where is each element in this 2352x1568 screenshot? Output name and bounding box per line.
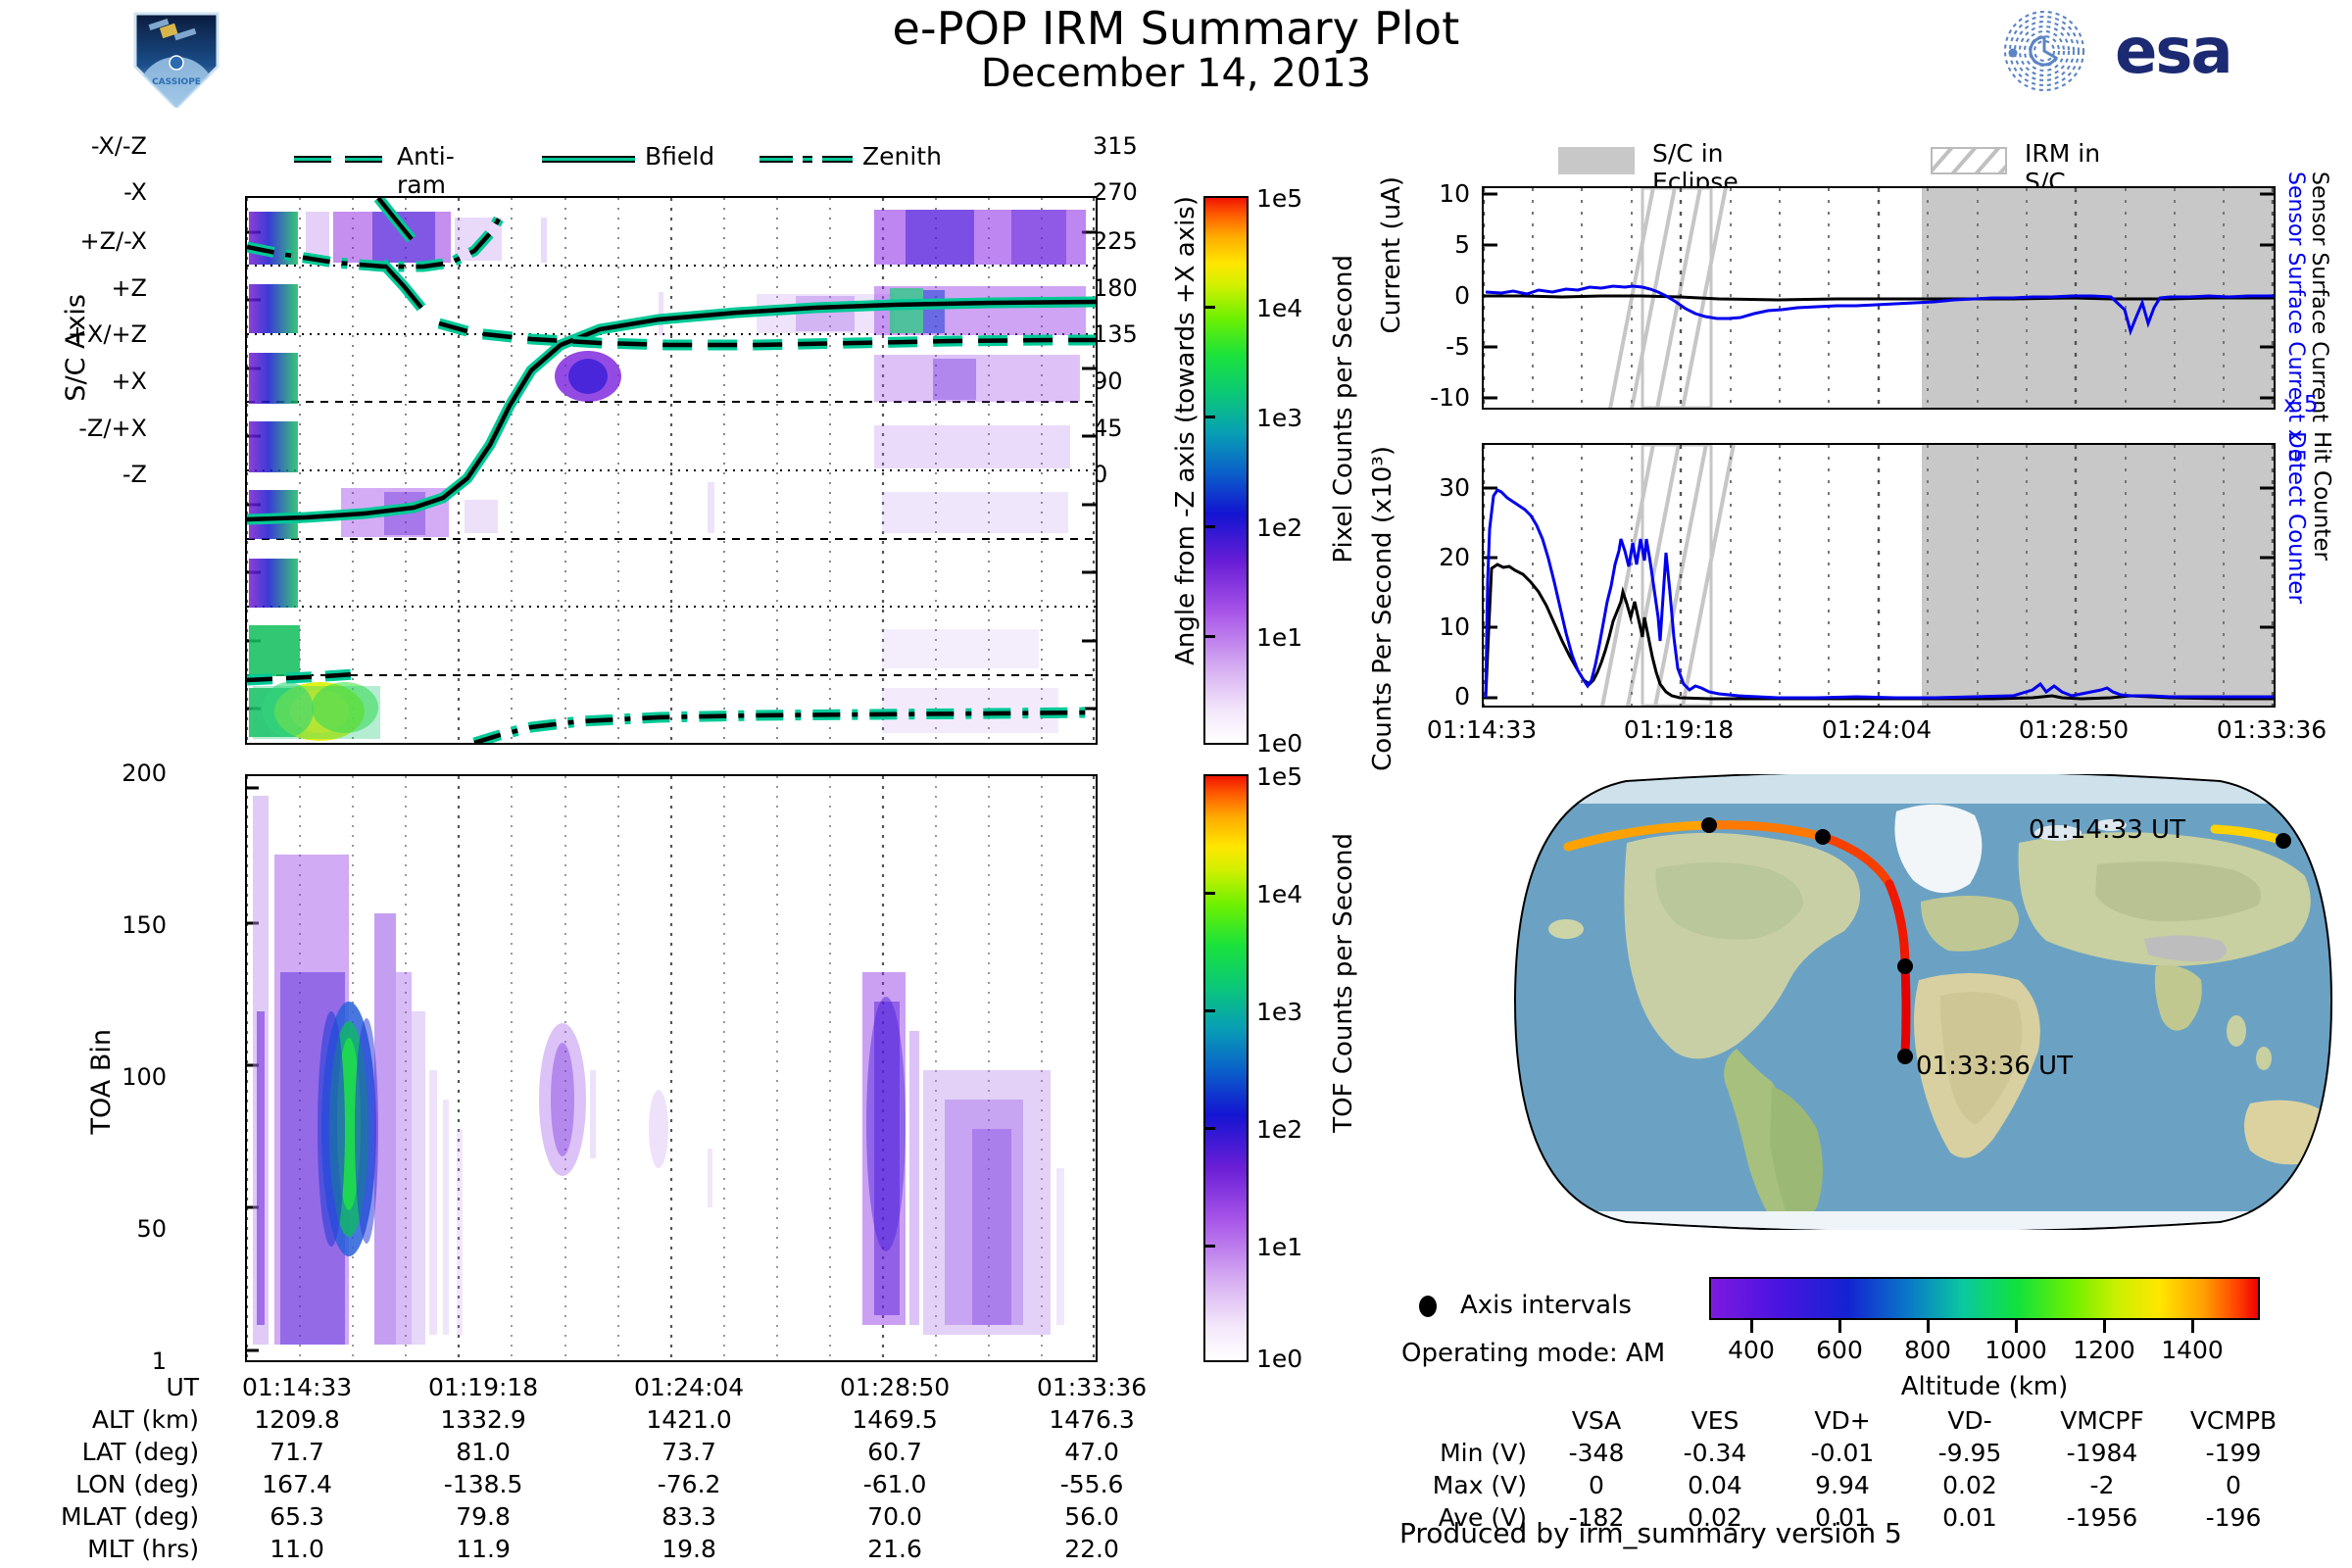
lat-c1: 81.0 — [381, 1437, 585, 1467]
current-right-label-black: Sensor Surface Current — [2307, 171, 2331, 422]
counts-ytick-10: 10 — [1411, 612, 1470, 641]
operating-mode-label: Operating mode: AM — [1401, 1339, 1665, 1368]
row-label-mlat: MLAT (deg) — [61, 1501, 213, 1532]
current-ytick-neg10: -10 — [1396, 383, 1470, 412]
right-xtick-0: 01:14:33 — [1394, 715, 1570, 744]
lon-c3: -61.0 — [793, 1469, 997, 1499]
vt-ave-4: -1956 — [2034, 1502, 2170, 1533]
vt-max-2: 9.94 — [1780, 1470, 1905, 1500]
mlt-c4: 22.0 — [999, 1534, 1185, 1564]
produced-by-footer: Produced by irm_summary version 5 — [1399, 1517, 1902, 1549]
current-ylabel: Current (uA) — [1377, 176, 1406, 333]
tof-cbar-tick-1e4: 1e4 — [1256, 880, 1302, 908]
alt-c2: 1421.0 — [587, 1404, 791, 1435]
vt-ave-3: 0.01 — [1907, 1502, 2033, 1533]
alt-c0: 1209.8 — [215, 1404, 379, 1435]
lat-c4: 47.0 — [999, 1437, 1185, 1467]
vt-min-0: -348 — [1543, 1438, 1650, 1468]
vt-min-1: -0.34 — [1652, 1438, 1778, 1468]
lat-c3: 60.7 — [793, 1437, 997, 1467]
tof-cbar-tick-1e0: 1e0 — [1256, 1345, 1302, 1373]
mlat-c1: 79.8 — [381, 1501, 585, 1532]
shadow-swatch-icon — [1931, 147, 2007, 174]
current-scale-x5-label: x 5 — [2283, 392, 2319, 417]
sc-ytick-right-2: 225 — [1093, 227, 1138, 255]
tof-cbar-tick-1e3: 1e3 — [1256, 998, 1302, 1026]
vt-head-2: VD+ — [1780, 1405, 1905, 1436]
counts-plot-area — [1482, 443, 2276, 708]
table-row: UT 01:14:33 01:19:18 01:24:04 01:28:50 0… — [61, 1372, 1185, 1402]
alt-c4: 1476.3 — [999, 1404, 1185, 1435]
mlat-c0: 65.3 — [215, 1501, 379, 1532]
vt-ave-5: -196 — [2172, 1502, 2295, 1533]
voltage-table: VSA VES VD+ VD- VMCPF VCMPB Min (V) -348… — [1413, 1403, 2297, 1535]
counts-right-label-blue: Detect Counter — [2283, 431, 2309, 604]
sc-ytick-7: -Z — [20, 461, 147, 488]
vt-row-label-max: Max (V) — [1415, 1470, 1541, 1500]
mlat-c3: 70.0 — [793, 1501, 997, 1532]
right-xtick-2: 01:24:04 — [1788, 715, 1965, 744]
lon-c0: 167.4 — [215, 1469, 379, 1499]
row-label-lat: LAT (deg) — [61, 1437, 213, 1467]
table-row: ALT (km) 1209.8 1332.9 1421.0 1469.5 147… — [61, 1404, 1185, 1435]
sc-ytick-6: -Z/+X — [20, 415, 147, 442]
mlat-c2: 83.3 — [587, 1501, 791, 1532]
cassiope-mission-badge: CASSIOPE — [125, 6, 227, 108]
pixel-cbar-tick-1e1: 1e1 — [1256, 623, 1302, 652]
mlt-c3: 21.6 — [793, 1534, 997, 1564]
pixel-cbar-tick-1e0: 1e0 — [1256, 729, 1302, 758]
ground-track-map — [1509, 774, 2337, 1230]
right-xtick-4: 01:33:36 — [2183, 715, 2352, 744]
sc-ytick-right-3: 180 — [1093, 274, 1138, 302]
pixel-cbar-tick-1e4: 1e4 — [1256, 294, 1302, 322]
mlt-c1: 11.9 — [381, 1534, 585, 1564]
vt-max-0: 0 — [1543, 1470, 1650, 1500]
counts-right-label-black: Hit Counter — [2309, 431, 2334, 561]
vt-head-0: VSA — [1543, 1405, 1650, 1436]
tof-cbar-tick-1e2: 1e2 — [1256, 1115, 1302, 1144]
toa-ytick-200: 200 — [39, 759, 167, 787]
table-row: MLT (hrs) 11.0 11.9 19.8 21.6 22.0 — [61, 1534, 1185, 1564]
toa-ytick-100: 100 — [39, 1063, 167, 1091]
pixel-cbar-tick-1e3: 1e3 — [1256, 404, 1302, 432]
table-row: MLAT (deg) 65.3 79.8 83.3 70.0 56.0 — [61, 1501, 1185, 1532]
tof-colorbar-label: TOF Counts per Second — [1329, 833, 1358, 1133]
sc-ytick-2: +Z/-X — [20, 227, 147, 255]
mlt-c0: 11.0 — [215, 1534, 379, 1564]
right-xtick-3: 01:28:50 — [1985, 715, 2162, 744]
current-ytick-5: 5 — [1411, 230, 1470, 259]
table-row: Max (V) 0 0.04 9.94 0.02 -2 0 — [1415, 1470, 2295, 1500]
vt-row-label-min: Min (V) — [1415, 1438, 1541, 1468]
axis-interval-dot-icon — [1419, 1296, 1437, 1317]
lon-c2: -76.2 — [587, 1469, 791, 1499]
vt-max-3: 0.02 — [1907, 1470, 2033, 1500]
tof-cbar-tick-1e1: 1e1 — [1256, 1233, 1302, 1261]
pixel-cbar-tick-1e2: 1e2 — [1256, 514, 1302, 542]
alt-tick-1000: 1000 — [1972, 1336, 2060, 1364]
altitude-colorbar — [1709, 1277, 2260, 1320]
sc-ytick-0: -X/-Z — [20, 132, 147, 160]
legend-label-zenith: Zenith — [862, 142, 942, 171]
row-label-mlt: MLT (hrs) — [61, 1534, 213, 1564]
vt-min-4: -1984 — [2034, 1438, 2170, 1468]
current-ytick-0: 0 — [1411, 281, 1470, 310]
table-row: LON (deg) 167.4 -138.5 -76.2 -61.0 -55.6 — [61, 1469, 1185, 1499]
vt-head-4: VMCPF — [2034, 1405, 2170, 1436]
tof-cbar-tick-1e5: 1e5 — [1256, 762, 1302, 791]
axis-intervals-label: Axis intervals — [1460, 1291, 1632, 1320]
row-label-lon: LON (deg) — [61, 1469, 213, 1499]
ut-c2: 01:24:04 — [587, 1372, 791, 1402]
ut-c1: 01:19:18 — [381, 1372, 585, 1402]
legend-label-anti-ram: Anti-ram — [397, 142, 455, 199]
sc-ytick-3: +Z — [20, 274, 147, 302]
vt-min-2: -0.01 — [1780, 1438, 1905, 1468]
cassiope-badge-text: CASSIOPE — [152, 77, 201, 87]
vt-max-1: 0.04 — [1652, 1470, 1778, 1500]
alt-tick-400: 400 — [1707, 1336, 1795, 1364]
counts-ytick-20: 20 — [1411, 543, 1470, 571]
current-ytick-10: 10 — [1411, 179, 1470, 208]
vt-max-5: 0 — [2172, 1470, 2295, 1500]
current-ytick-neg5: -5 — [1396, 332, 1470, 361]
altitude-colorbar-label: Altitude (km) — [1852, 1372, 2117, 1401]
alt-tick-1200: 1200 — [2060, 1336, 2148, 1364]
row-label-alt: ALT (km) — [61, 1404, 213, 1435]
sc-ytick-5: +X — [20, 367, 147, 395]
current-right-label-blue: Sensor Surface Current x 5 — [2283, 171, 2308, 463]
sc-axis-plot-area — [245, 196, 1098, 745]
lat-c0: 71.7 — [215, 1437, 379, 1467]
alt-c1: 1332.9 — [381, 1404, 585, 1435]
lon-c4: -55.6 — [999, 1469, 1185, 1499]
esa-logo: esa — [1989, 8, 2313, 94]
right-xtick-1: 01:19:18 — [1591, 715, 1767, 744]
pixel-counts-colorbar — [1203, 196, 1249, 745]
ut-c3: 01:28:50 — [793, 1372, 997, 1402]
ut-c4: 01:33:36 — [999, 1372, 1185, 1402]
table-row: VSA VES VD+ VD- VMCPF VCMPB — [1415, 1405, 2295, 1436]
sc-ytick-right-4: 135 — [1093, 320, 1138, 348]
vt-head-5: VCMPB — [2172, 1405, 2295, 1436]
counts-ytick-0: 0 — [1411, 682, 1470, 710]
toa-ytick-150: 150 — [39, 911, 167, 939]
sc-ytick-4: +X/+Z — [20, 320, 147, 348]
sc-axis-right-ylabel: Angle from -Z axis (towards +X axis) — [1171, 196, 1200, 665]
vt-min-5: -199 — [2172, 1438, 2295, 1468]
sc-ytick-right-1: 270 — [1093, 178, 1138, 206]
eclipse-swatch-icon — [1558, 147, 1635, 174]
table-row: LAT (deg) 71.7 81.0 73.7 60.7 47.0 — [61, 1437, 1185, 1467]
pixel-colorbar-label: Pixel Counts per Second — [1329, 255, 1358, 563]
mlat-c4: 56.0 — [999, 1501, 1185, 1532]
toa-ytick-50: 50 — [39, 1215, 167, 1243]
esa-wordmark: esa — [2115, 16, 2231, 88]
table-row: Min (V) -348 -0.34 -0.01 -9.95 -1984 -19… — [1415, 1438, 2295, 1468]
vt-head-3: VD- — [1907, 1405, 2033, 1436]
lat-c2: 73.7 — [587, 1437, 791, 1467]
sc-ytick-1: -X — [20, 178, 147, 206]
alt-tick-1400: 1400 — [2148, 1336, 2236, 1364]
current-plot-area — [1482, 186, 2276, 410]
ut-c0: 01:14:33 — [215, 1372, 379, 1402]
sc-ytick-right-0: 315 — [1093, 132, 1138, 160]
map-end-label: 01:33:36 UT — [1916, 1052, 2073, 1081]
vt-min-3: -9.95 — [1907, 1438, 2033, 1468]
vt-max-4: -2 — [2034, 1470, 2170, 1500]
counts-ytick-30: 30 — [1411, 473, 1470, 502]
map-start-label: 01:14:33 UT — [2029, 815, 2185, 845]
legend-label-bfield: Bfield — [645, 142, 714, 171]
mlt-c2: 19.8 — [587, 1534, 791, 1564]
lon-c1: -138.5 — [381, 1469, 585, 1499]
ephemeris-table: UT 01:14:33 01:19:18 01:24:04 01:28:50 0… — [59, 1370, 1187, 1566]
vt-head-1: VES — [1652, 1405, 1778, 1436]
alt-tick-800: 800 — [1884, 1336, 1972, 1364]
toa-plot-area — [245, 774, 1098, 1362]
row-label-ut: UT — [61, 1372, 213, 1402]
pixel-cbar-tick-1e5: 1e5 — [1256, 184, 1302, 213]
tof-counts-colorbar — [1203, 774, 1249, 1362]
alt-tick-600: 600 — [1795, 1336, 1884, 1364]
alt-c3: 1469.5 — [793, 1404, 997, 1435]
